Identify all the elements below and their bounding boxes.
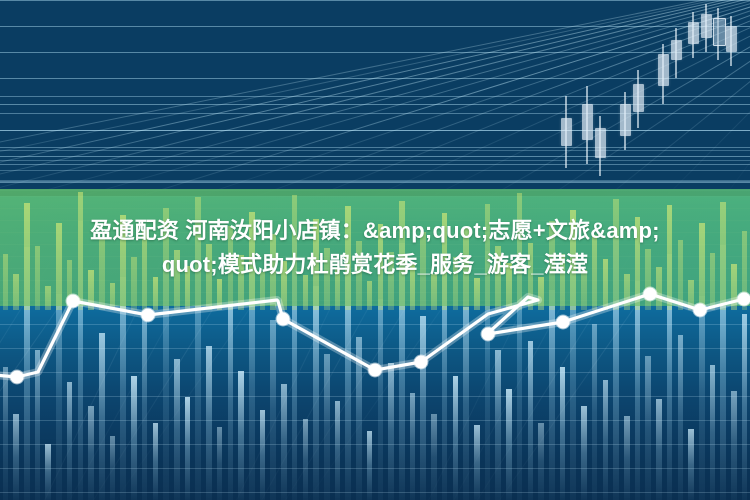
trend-line-marker bbox=[11, 371, 24, 384]
trend-line-marker bbox=[369, 364, 382, 377]
trend-line-marker bbox=[277, 313, 290, 326]
trend-line-marker bbox=[415, 356, 428, 369]
trend-line-marker bbox=[482, 328, 495, 341]
caption-block: 盈通配资 河南汝阳小店镇：&amp;quot;志愿+文旅&amp; quot;模… bbox=[0, 196, 750, 300]
caption-line-1: 盈通配资 河南汝阳小店镇：&amp;quot;志愿+文旅&amp; bbox=[90, 216, 659, 246]
trend-line-marker bbox=[142, 309, 155, 322]
caption-line-2: quot;模式助力杜鹃赏花季_服务_游客_滢滢 bbox=[162, 250, 588, 280]
trend-line-marker bbox=[557, 316, 570, 329]
trend-line-marker bbox=[694, 304, 707, 317]
banner-image: 盈通配资 河南汝阳小店镇：&amp;quot;志愿+文旅&amp; quot;模… bbox=[0, 0, 750, 500]
